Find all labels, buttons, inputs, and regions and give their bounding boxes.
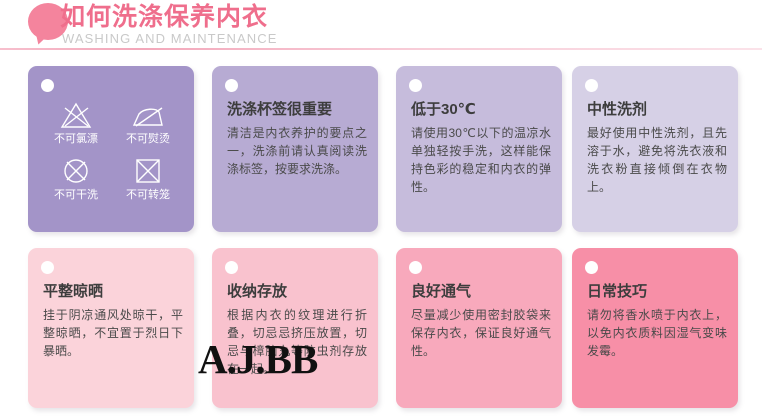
care-card-ventilation[interactable]: 良好通气 尽量减少使用密封胶袋来保存内衣，保证良好通气性。: [396, 248, 562, 408]
punch-hole-icon: [409, 79, 422, 92]
symbol-label: 不可熨烫: [126, 132, 170, 146]
no-dry-clean-icon: [58, 156, 94, 186]
punch-hole-icon: [585, 79, 598, 92]
card-body: 尽量减少使用密封胶袋来保存内衣，保证良好通气性。: [411, 306, 551, 360]
card-title: 日常技巧: [587, 282, 728, 302]
card-title: 低于30℃: [411, 100, 552, 120]
card-body: 请使用30℃以下的温凉水单独轻按手洗，这样能保持色彩的稳定和内衣的弹性。: [411, 124, 551, 196]
punch-hole-icon: [585, 261, 598, 274]
no-tumble-dry-icon: [130, 156, 166, 186]
card-body: 最好使用中性洗剂，且先溶于水，避免将洗衣液和洗衣粉直接倾倒在衣物上。: [587, 124, 727, 196]
punch-hole-icon: [41, 261, 54, 274]
punch-hole-icon: [225, 79, 238, 92]
symbol-label: 不可干洗: [54, 188, 98, 202]
punch-hole-icon: [409, 261, 422, 274]
no-iron-icon: [130, 100, 166, 130]
symbol-no-tumble-dry: 不可转笼: [112, 156, 184, 212]
care-card-below-30c[interactable]: 低于30℃ 请使用30℃以下的温凉水单独轻按手洗，这样能保持色彩的稳定和内衣的弹…: [396, 66, 562, 232]
punch-hole-icon: [225, 261, 238, 274]
symbol-no-dry-clean: 不可干洗: [40, 156, 112, 212]
card-body: 请勿将香水喷于内衣上，以免内衣质料因湿气变味发霉。: [587, 306, 727, 360]
card-title: 平整晾晒: [43, 282, 184, 302]
care-card-wash-label[interactable]: 洗涤杯签很重要 清洁是内衣养护的要点之一，洗涤前请认真阅读洗涤标签，按要求洗涤。: [212, 66, 378, 232]
symbol-label: 不可转笼: [126, 188, 170, 202]
symbol-no-iron: 不可熨烫: [112, 100, 184, 156]
symbol-no-bleach: 不可氯漂: [40, 100, 112, 156]
care-card-care-symbols[interactable]: 不可氯漂 不可熨烫: [28, 66, 194, 232]
care-card-flat-drying[interactable]: 平整晾晒 挂于阴凉通风处晾干，平整晾晒，不宜置于烈日下暴晒。: [28, 248, 194, 408]
card-title: 中性洗剂: [587, 100, 728, 120]
symbol-grid: 不可氯漂 不可熨烫: [40, 100, 184, 212]
watermark-text: A.J.BB: [198, 337, 317, 382]
card-title: 良好通气: [411, 282, 552, 302]
card-title: 收纳存放: [227, 282, 368, 302]
card-title: 洗涤杯签很重要: [227, 100, 368, 120]
care-card-daily-tips[interactable]: 日常技巧 请勿将香水喷于内衣上，以免内衣质料因湿气变味发霉。: [572, 248, 738, 408]
card-body: 清洁是内衣养护的要点之一，洗涤前请认真阅读洗涤标签，按要求洗涤。: [227, 124, 367, 178]
no-bleach-icon: [58, 100, 94, 130]
care-card-grid: 不可氯漂 不可熨烫: [0, 0, 762, 416]
punch-hole-icon: [41, 79, 54, 92]
care-card-neutral-detergent[interactable]: 中性洗剂 最好使用中性洗剂，且先溶于水，避免将洗衣液和洗衣粉直接倾倒在衣物上。: [572, 66, 738, 232]
card-body: 挂于阴凉通风处晾干，平整晾晒，不宜置于烈日下暴晒。: [43, 306, 183, 360]
care-card-storage[interactable]: 收纳存放 根据内衣的纹理进行折叠，切忌忌挤压放置，切忌与樟脑丸等防虫剂存放在一起…: [212, 248, 378, 408]
symbol-label: 不可氯漂: [54, 132, 98, 146]
